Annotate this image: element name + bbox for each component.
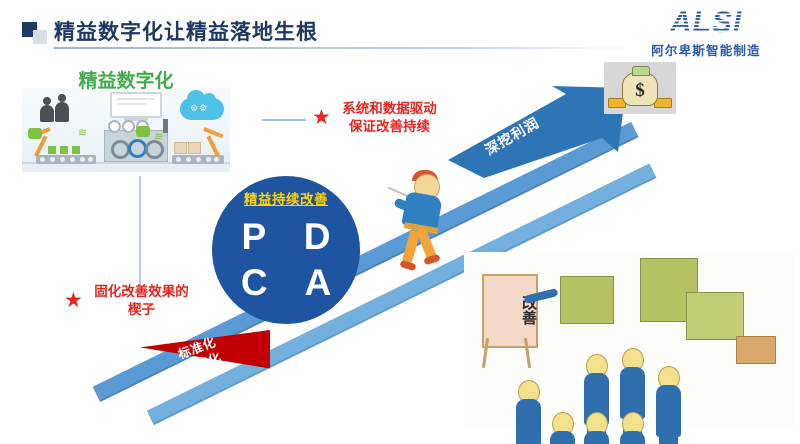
lean-digitalization-illustration: 精益数字化 ⚙⚙ [22, 88, 230, 172]
kaizen-meeting-icon: 改善 [464, 252, 794, 428]
annotation-line2: 保证改善持续 [349, 119, 430, 134]
leader-line-vertical [139, 176, 141, 288]
logo-subtitle: 阿尔卑斯智能制造 [626, 40, 786, 59]
wifi-icon: ≋ [78, 128, 87, 139]
annotation-system-data-driven: ★ 系统和数据驱动 保证改善持续 [312, 100, 437, 136]
monitor-icon [110, 92, 162, 118]
shoe-shape [399, 260, 416, 272]
person-silhouette-right [55, 102, 69, 122]
illustration-title: 精益数字化 [22, 66, 230, 93]
pdca-line-pd: P D [212, 218, 360, 255]
chat-bubble-icon [136, 126, 150, 137]
annotation-line1: 固化改善效果的 [94, 284, 189, 299]
square-bullet-icon [22, 22, 48, 44]
package-icon [48, 146, 56, 154]
star-icon: ★ [312, 107, 331, 128]
annotation-text: 固化改善效果的 楔子 [94, 283, 189, 319]
person-silhouette-left [40, 105, 54, 122]
conveyor-icon [36, 155, 96, 164]
chat-bubble-icon [28, 128, 42, 139]
annotation-text: 系统和数据驱动 保证改善持续 [342, 100, 437, 136]
bag-shape: $ [622, 72, 658, 106]
money-bag-icon: $ [604, 62, 676, 114]
node-icon [108, 120, 121, 133]
people-icon [40, 96, 74, 122]
title-divider [54, 47, 634, 49]
page-title: 精益数字化让精益落地生根 [54, 16, 318, 46]
bullet-square-light [33, 30, 47, 44]
company-logo: ALSI 阿尔卑斯智能制造 [626, 8, 786, 59]
pdca-caption: 精益持续改善 [212, 188, 360, 208]
annotation-line1: 系统和数据驱动 [342, 101, 437, 116]
robot-arm-icon [207, 135, 220, 157]
dollar-symbol: $ [623, 80, 657, 102]
easel-icon: 改善 [478, 274, 536, 360]
logo-wordmark: ALSI [626, 8, 786, 38]
pdca-line-ca: C A [212, 264, 360, 301]
green-box-icon [560, 276, 614, 324]
package-icon [72, 146, 80, 154]
leader-line-horizontal [262, 119, 306, 121]
annotation-line2: 楔子 [128, 302, 155, 317]
crate-icon [736, 336, 776, 364]
board-text: 改善 [484, 284, 536, 336]
star-icon: ★ [64, 290, 83, 311]
node-icon [122, 120, 135, 133]
package-icon [174, 142, 187, 154]
slide-canvas: 精益数字化让精益落地生根 ALSI 阿尔卑斯智能制造 精益数字化 ⚙⚙ [0, 0, 800, 444]
flipchart-board: 改善 [482, 274, 538, 348]
package-icon [60, 146, 68, 154]
climbing-person-icon [392, 168, 462, 280]
package-icon [188, 142, 201, 154]
wifi-icon: ≋ [154, 132, 163, 143]
cloud-icon: ⚙⚙ [180, 98, 224, 120]
annotation-wedge-effect: ★ 固化改善效果的 楔子 [64, 283, 189, 319]
smokestack-icon [163, 119, 168, 133]
pdca-circle: 精益持续改善 P D C A [212, 176, 360, 324]
green-box-icon [686, 292, 744, 340]
